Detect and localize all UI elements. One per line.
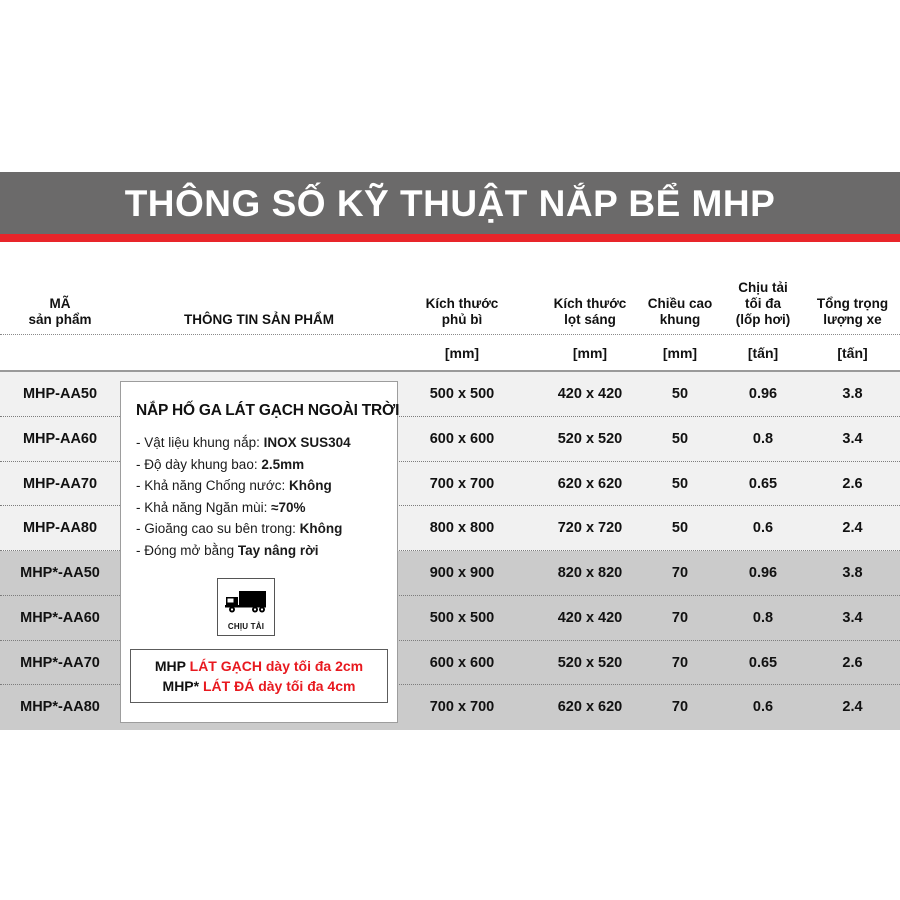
cell-clear-size: 720 x 720: [526, 506, 654, 551]
column-header-product-info: THÔNG TIN SẢN PHẨM: [120, 312, 398, 328]
cell-product-code: MHP-AA70: [0, 462, 120, 507]
banner-red-rule: [0, 234, 900, 242]
cell-clear-size: 620 x 620: [526, 685, 654, 730]
column-header-code-line2: sản phẩm: [0, 312, 120, 328]
cell-max-load: 0.96: [719, 551, 807, 596]
info-spec-label: - Khả năng Ngăn mùi:: [136, 500, 271, 515]
table-header: MÃ sản phẩm THÔNG TIN SẢN PHẨM Kích thướ…: [0, 250, 900, 372]
info-spec-line: - Độ dày khung bao: 2.5mm: [136, 454, 388, 476]
thickness-note-line-1: MHP LÁT GẠCH dày tối đa 2cm: [155, 656, 363, 676]
cell-frame-height: 70: [641, 641, 719, 686]
cell-product-code: MHP*-AA80: [0, 685, 120, 730]
cell-clear-size: 520 x 520: [526, 417, 654, 462]
cell-max-load: 0.96: [719, 372, 807, 417]
cell-product-code: MHP*-AA50: [0, 551, 120, 596]
cell-clear-size: 820 x 820: [526, 551, 654, 596]
column-header-max-load-line1: Chịu tải: [719, 280, 807, 296]
cell-overall-size: 600 x 600: [398, 417, 526, 462]
info-panel-spec-list: - Vật liệu khung nắp: INOX SUS304- Độ dà…: [136, 432, 388, 561]
column-header-frame-height: Chiều cao khung: [641, 296, 719, 328]
cell-frame-height: 70: [641, 551, 719, 596]
column-header-overall-size: Kích thước phủ bì: [398, 296, 526, 328]
cell-frame-height: 70: [641, 685, 719, 730]
title-banner: THÔNG SỐ KỸ THUẬT NẮP BỂ MHP: [0, 172, 900, 234]
info-spec-line: - Khả năng Chống nước: Không: [136, 475, 388, 497]
load-capacity-badge-label: CHỊU TẢI: [218, 622, 274, 631]
column-header-clear-size: Kích thước lọt sáng: [526, 296, 654, 328]
column-header-product-info-line1: THÔNG TIN SẢN PHẨM: [120, 312, 398, 328]
cell-product-code: MHP-AA60: [0, 417, 120, 462]
column-header-overall-size-line2: phủ bì: [398, 312, 526, 328]
column-header-max-load: Chịu tải tối đa (lốp hơi): [719, 280, 807, 328]
thickness-note-line-1-prefix: MHP: [155, 658, 186, 674]
cell-total-weight: 2.4: [805, 506, 900, 551]
cell-product-code: MHP-AA50: [0, 372, 120, 417]
unit-frame-height: [mm]: [641, 345, 719, 361]
thickness-note-line-2-text: LÁT ĐÁ dày tối đa 4cm: [203, 678, 355, 694]
info-spec-label: - Vật liệu khung nắp:: [136, 435, 264, 450]
thickness-note-line-2-prefix: MHP*: [163, 678, 200, 694]
cell-clear-size: 420 x 420: [526, 372, 654, 417]
cell-clear-size: 620 x 620: [526, 462, 654, 507]
column-header-max-load-line2: tối đa: [719, 296, 807, 312]
cell-max-load: 0.8: [719, 596, 807, 641]
info-spec-value: Không: [300, 521, 343, 536]
column-header-clear-size-line1: Kích thước: [526, 296, 654, 312]
table-header-titles: MÃ sản phẩm THÔNG TIN SẢN PHẨM Kích thướ…: [0, 250, 900, 334]
cell-product-code: MHP*-AA70: [0, 641, 120, 686]
unit-total-weight: [tấn]: [805, 345, 900, 361]
cell-overall-size: 900 x 900: [398, 551, 526, 596]
cell-overall-size: 700 x 700: [398, 685, 526, 730]
cell-max-load: 0.6: [719, 506, 807, 551]
cell-clear-size: 420 x 420: [526, 596, 654, 641]
cell-frame-height: 50: [641, 506, 719, 551]
cell-total-weight: 3.8: [805, 551, 900, 596]
column-header-total-weight-line2: lượng xe: [805, 312, 900, 328]
info-spec-line: - Đóng mở bằng Tay nâng rời: [136, 540, 388, 562]
info-spec-value: ≈70%: [271, 500, 305, 515]
column-header-overall-size-line1: Kích thước: [398, 296, 526, 312]
thickness-note-line-2: MHP* LÁT ĐÁ dày tối đa 4cm: [163, 676, 356, 696]
cell-total-weight: 2.6: [805, 462, 900, 507]
cell-total-weight: 3.8: [805, 372, 900, 417]
unit-overall-size: [mm]: [398, 345, 526, 361]
cell-max-load: 0.65: [719, 641, 807, 686]
info-panel-title: NẮP HỐ GA LÁT GẠCH NGOÀI TRỜI: [136, 402, 399, 420]
cell-product-code: MHP*-AA60: [0, 596, 120, 641]
thickness-note-line-1-text: LÁT GẠCH dày tối đa 2cm: [190, 658, 363, 674]
column-header-total-weight-line1: Tổng trọng: [805, 296, 900, 312]
info-spec-label: - Gioăng cao su bên trong:: [136, 521, 300, 536]
page-title: THÔNG SỐ KỸ THUẬT NẮP BỂ MHP: [125, 185, 776, 222]
load-capacity-badge: CHỊU TẢI: [217, 578, 275, 636]
info-spec-line: - Khả năng Ngăn mùi: ≈70%: [136, 497, 388, 519]
column-header-code: MÃ sản phẩm: [0, 296, 120, 328]
info-spec-label: - Độ dày khung bao:: [136, 457, 261, 472]
column-header-max-load-line3: (lốp hơi): [719, 312, 807, 328]
row-separator: [0, 729, 900, 730]
cell-overall-size: 700 x 700: [398, 462, 526, 507]
column-header-frame-height-line2: khung: [641, 312, 719, 328]
column-header-clear-size-line2: lọt sáng: [526, 312, 654, 328]
info-spec-label: - Khả năng Chống nước:: [136, 478, 289, 493]
cell-overall-size: 600 x 600: [398, 641, 526, 686]
cell-max-load: 0.65: [719, 462, 807, 507]
cell-product-code: MHP-AA80: [0, 506, 120, 551]
cell-frame-height: 50: [641, 462, 719, 507]
info-spec-value: 2.5mm: [261, 457, 304, 472]
cell-total-weight: 3.4: [805, 417, 900, 462]
column-header-frame-height-line1: Chiều cao: [641, 296, 719, 312]
truck-icon: [225, 589, 269, 615]
cell-overall-size: 800 x 800: [398, 506, 526, 551]
cell-total-weight: 2.4: [805, 685, 900, 730]
unit-clear-size: [mm]: [526, 345, 654, 361]
column-header-total-weight: Tổng trọng lượng xe: [805, 296, 900, 328]
table-header-units: [mm] [mm] [mm] [tấn] [tấn]: [0, 334, 900, 373]
unit-max-load: [tấn]: [719, 345, 807, 361]
cell-clear-size: 520 x 520: [526, 641, 654, 686]
cell-frame-height: 50: [641, 417, 719, 462]
cell-total-weight: 3.4: [805, 596, 900, 641]
product-info-panel: NẮP HỐ GA LÁT GẠCH NGOÀI TRỜI - Vật liệu…: [120, 381, 398, 723]
thickness-note-box: MHP LÁT GẠCH dày tối đa 2cm MHP* LÁT ĐÁ …: [130, 649, 388, 703]
column-header-code-line1: MÃ: [0, 296, 120, 312]
info-spec-line: - Gioăng cao su bên trong: Không: [136, 518, 388, 540]
info-spec-value: INOX SUS304: [264, 435, 351, 450]
cell-frame-height: 50: [641, 372, 719, 417]
info-spec-label: - Đóng mở bằng: [136, 543, 238, 558]
cell-max-load: 0.8: [719, 417, 807, 462]
info-spec-value: Tay nâng rời: [238, 543, 319, 558]
info-spec-line: - Vật liệu khung nắp: INOX SUS304: [136, 432, 388, 454]
cell-overall-size: 500 x 500: [398, 372, 526, 417]
cell-frame-height: 70: [641, 596, 719, 641]
cell-total-weight: 2.6: [805, 641, 900, 686]
info-spec-value: Không: [289, 478, 332, 493]
cell-overall-size: 500 x 500: [398, 596, 526, 641]
cell-max-load: 0.6: [719, 685, 807, 730]
